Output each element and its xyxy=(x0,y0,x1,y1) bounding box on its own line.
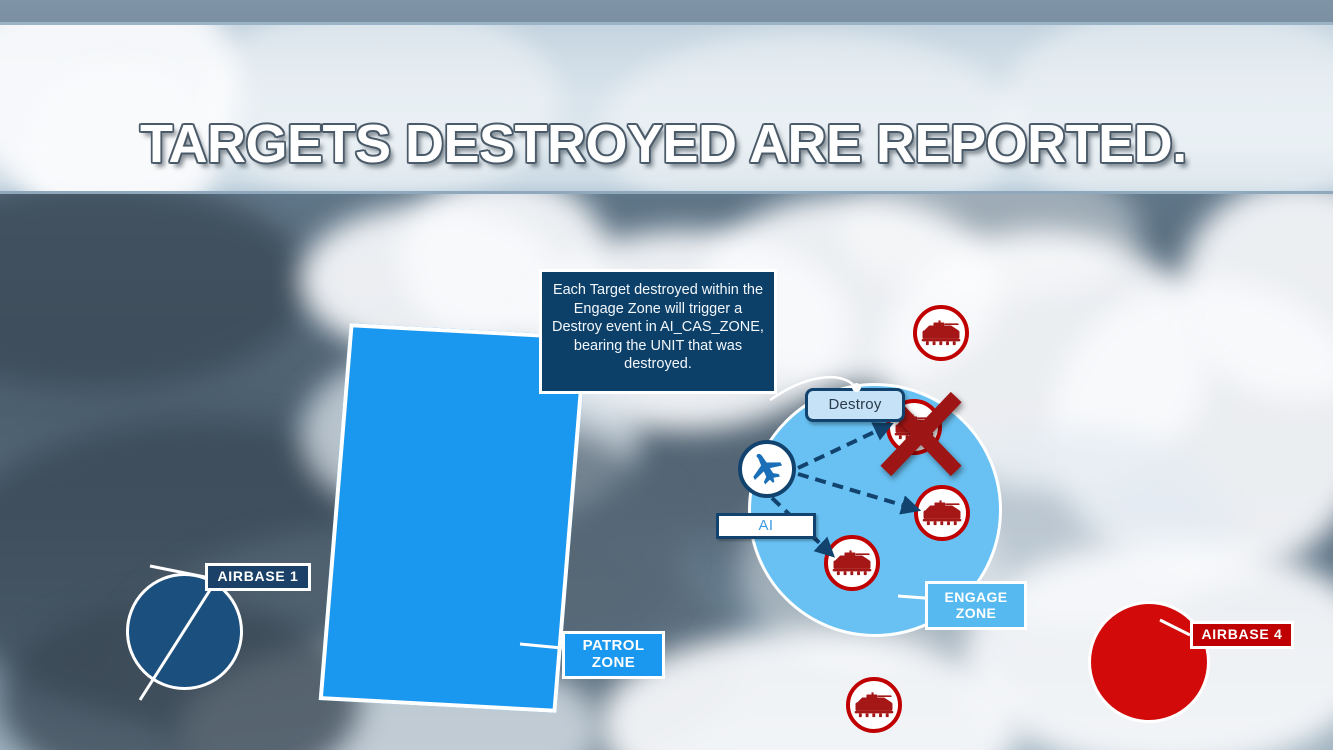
airbase-4-label[interactable]: AIRBASE 4 xyxy=(1190,621,1294,649)
patrol-zone-label-line2: ZONE xyxy=(592,655,635,672)
armored-vehicle-glyph xyxy=(921,500,963,526)
tank-icon[interactable] xyxy=(914,485,970,541)
presentation-slide: TARGETS DESTROYED ARE REPORTED. Each Tar… xyxy=(0,0,1333,750)
ai-label-text: AI xyxy=(759,518,774,535)
tank-icon[interactable] xyxy=(824,535,880,591)
patrol-zone-label[interactable]: PATROL ZONE xyxy=(562,631,665,679)
title-band-top-rule xyxy=(0,22,1333,25)
patrol-zone-label-line1: PATROL xyxy=(583,638,645,655)
tank-icon[interactable] xyxy=(846,677,902,733)
engage-zone-label[interactable]: ENGAGE ZONE xyxy=(925,581,1027,630)
airbase-1-label[interactable]: AIRBASE 1 xyxy=(205,563,311,591)
destroy-event-callout[interactable]: Destroy xyxy=(805,388,905,422)
ai-label[interactable]: AI xyxy=(716,513,816,539)
airbase-4-label-text: AIRBASE 4 xyxy=(1202,627,1283,643)
armored-vehicle-glyph xyxy=(831,550,873,576)
destroy-event-description-box: Each Target destroyed within the Engage … xyxy=(539,269,777,394)
fighter-jet-glyph xyxy=(747,449,787,489)
engage-zone-label-line1: ENGAGE xyxy=(944,590,1007,606)
airbase-4-shape xyxy=(1088,601,1210,723)
destroy-event-description-text: Each Target destroyed within the Engage … xyxy=(552,282,764,372)
airbase-1-label-text: AIRBASE 1 xyxy=(218,569,299,585)
armored-vehicle-glyph xyxy=(920,320,962,346)
destroy-event-callout-text: Destroy xyxy=(828,397,881,414)
page-title: TARGETS DESTROYED ARE REPORTED. xyxy=(0,58,1333,194)
armored-vehicle-glyph xyxy=(853,692,895,718)
tank-icon[interactable] xyxy=(913,305,969,361)
engage-zone-label-line2: ZONE xyxy=(956,606,997,622)
destroy-callout-anchor-dot xyxy=(852,383,861,392)
fighter-jet-icon[interactable] xyxy=(738,440,796,498)
title-band: TARGETS DESTROYED ARE REPORTED. xyxy=(0,22,1333,194)
